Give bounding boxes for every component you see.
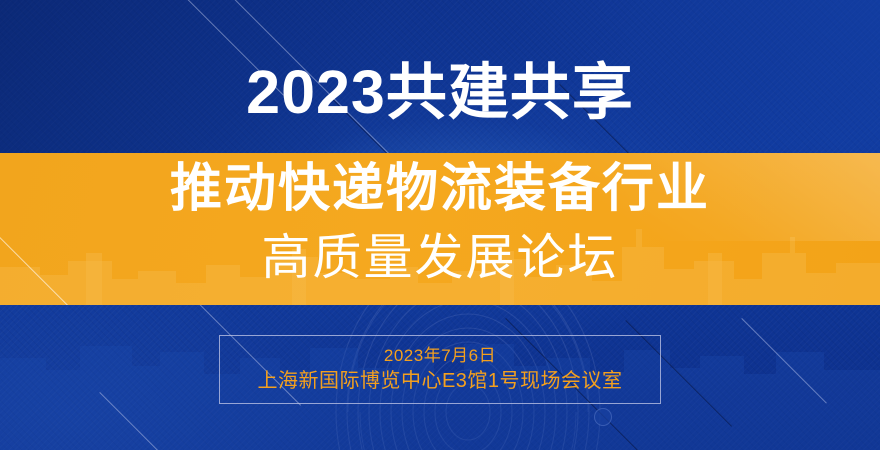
poster-main-title: 2023共建共享 bbox=[0, 62, 880, 123]
orange-banner-band: 推动快递物流装备行业 高质量发展论坛 bbox=[0, 153, 880, 305]
event-date: 2023年7月6日 bbox=[384, 345, 496, 366]
decorative-dot-badge bbox=[594, 408, 612, 426]
band-headline-line2: 高质量发展论坛 bbox=[0, 234, 880, 283]
conference-poster: 推动快递物流装备行业 高质量发展论坛 2023共建共享 2023年7月6日 上海… bbox=[0, 0, 880, 450]
event-venue: 上海新国际博览中心E3馆1号现场会议室 bbox=[257, 369, 622, 394]
band-headline-line1: 推动快递物流装备行业 bbox=[0, 163, 880, 215]
event-info-box: 2023年7月6日 上海新国际博览中心E3馆1号现场会议室 bbox=[219, 335, 661, 404]
